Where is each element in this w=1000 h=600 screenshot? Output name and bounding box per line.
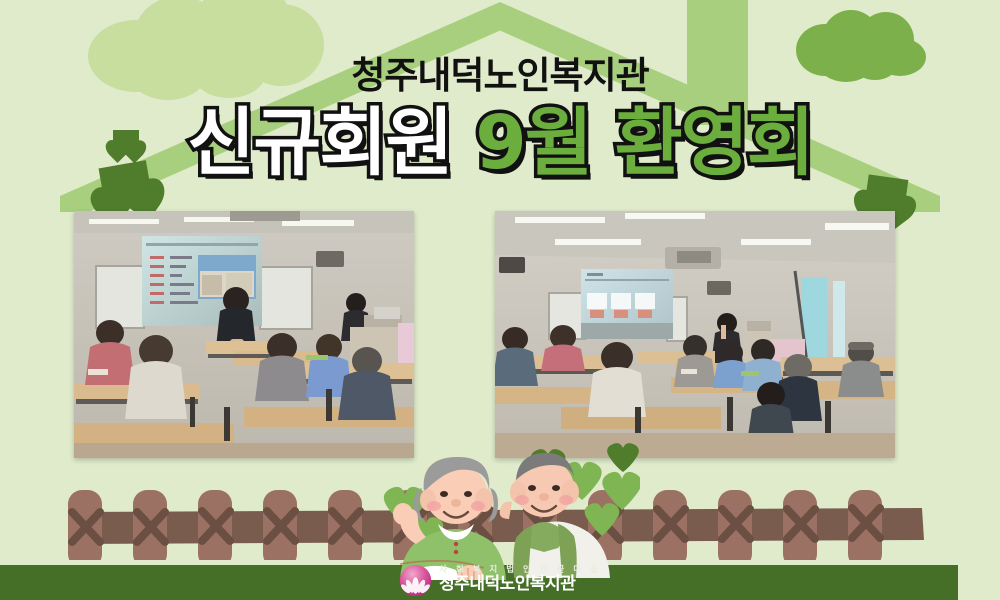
photo-left-image	[74, 211, 414, 458]
elderly-couple-illustration	[370, 430, 640, 580]
lotus-icon	[399, 564, 432, 597]
footer-logo-text: 사 회 복 지 법 인 연 꽃 마 을 청주내덕노인복지관	[439, 566, 601, 594]
photo-right-image	[495, 211, 895, 458]
photo-right	[495, 211, 895, 458]
heart-icon-large-left	[99, 160, 154, 212]
title-white-part: 신규회원	[187, 100, 451, 186]
poster-title: 신규회원 9월 환영회	[0, 106, 1000, 180]
footer-center-name: 청주내덕노인복지관	[439, 576, 601, 594]
title-green-part: 9월 환영회	[475, 100, 813, 186]
heart-icon-small-left	[113, 130, 139, 154]
footer-logo: 사 회 복 지 법 인 연 꽃 마 을 청주내덕노인복지관	[0, 560, 1000, 600]
poster-canvas: 청주내덕노인복지관 신규회원 9월 환영회	[0, 0, 1000, 600]
organization-subtitle: 청주내덕노인복지관	[0, 57, 1000, 94]
photo-left	[74, 211, 414, 458]
